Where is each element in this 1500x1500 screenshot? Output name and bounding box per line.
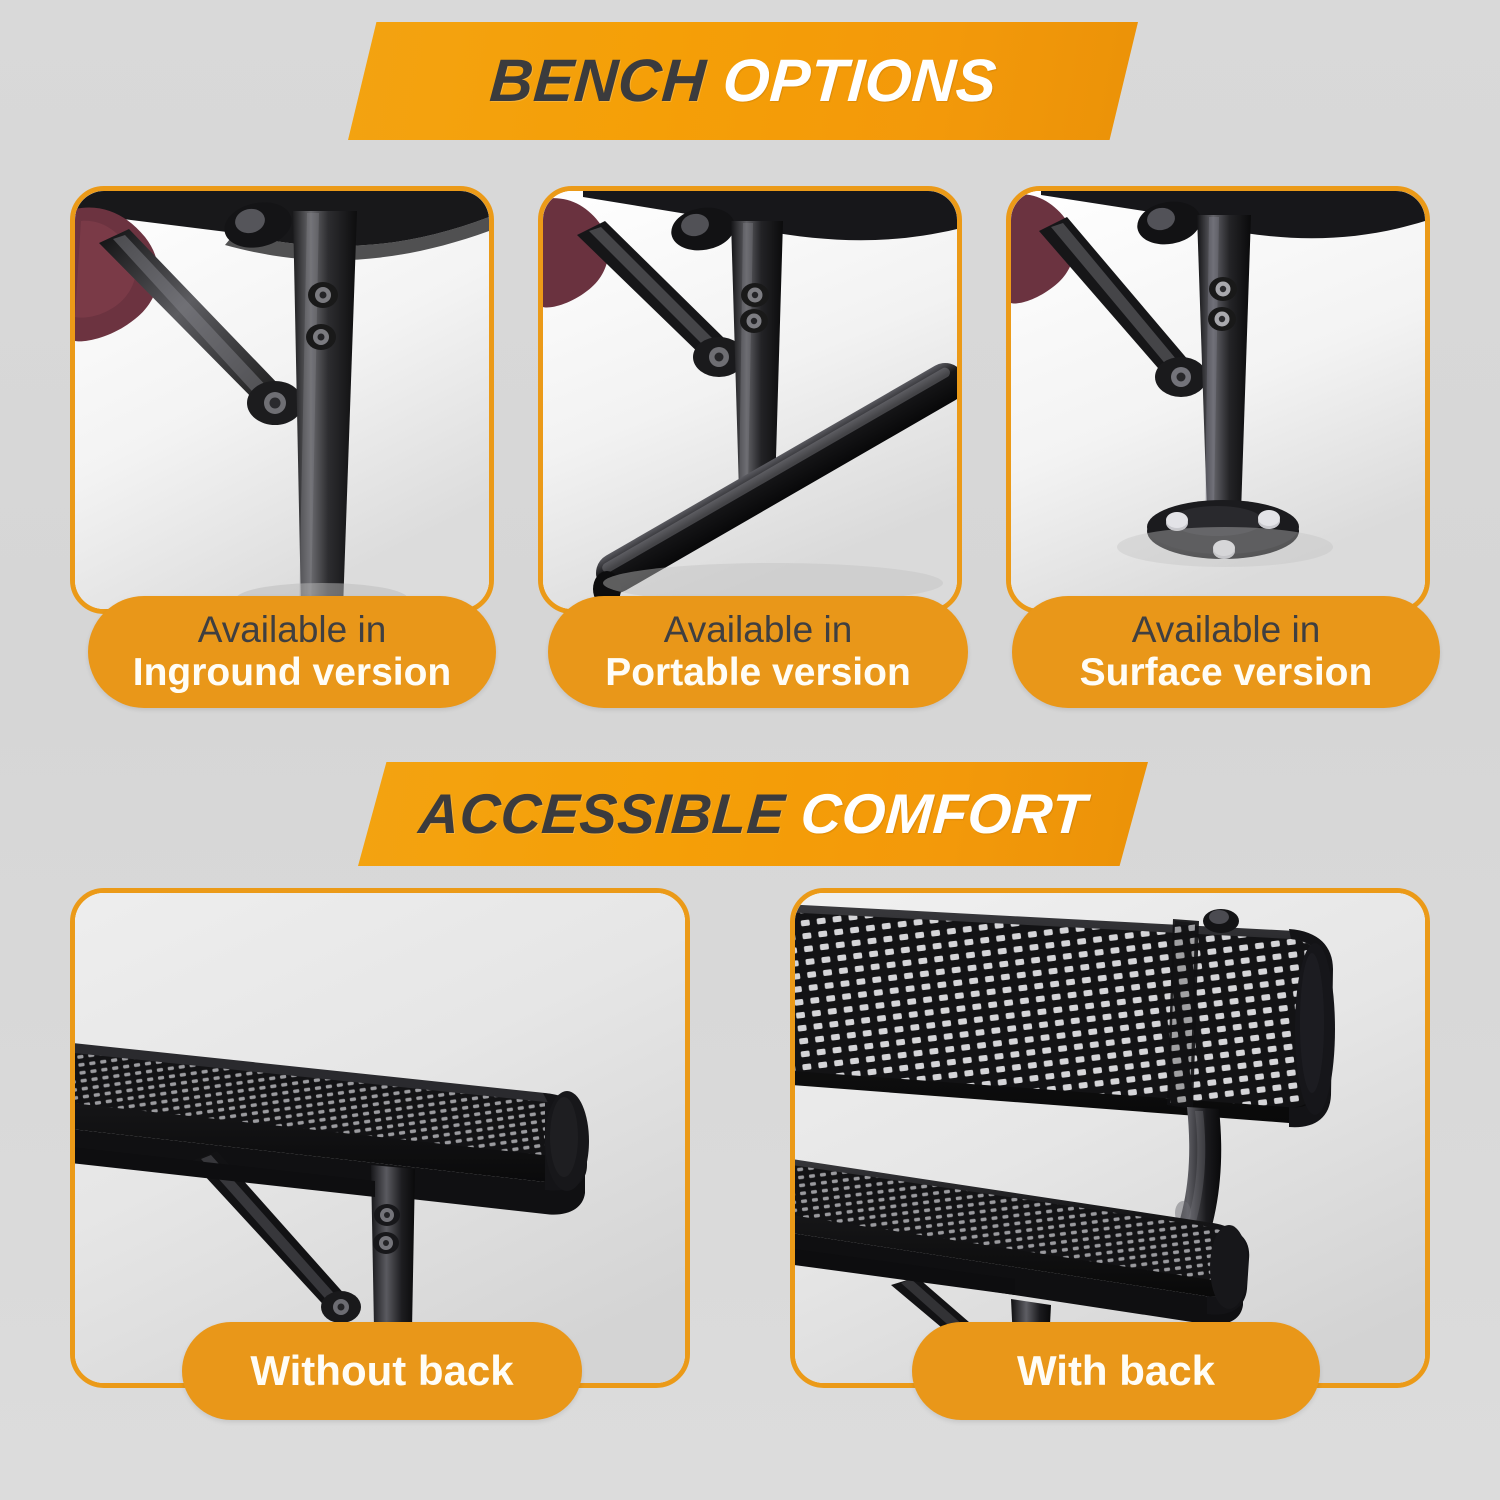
card-inground[interactable] (70, 186, 494, 614)
banner-accessible-comfort: ACCESSIBLE COMFORT (358, 762, 1148, 866)
banner-title-bench-options: BENCH OPTIONS (488, 51, 999, 111)
pill-line2: Portable version (605, 651, 911, 695)
bench-with-back-illustration (795, 893, 1425, 1383)
pill-line1: Available in (1132, 609, 1321, 650)
pill-with-back[interactable]: With back (912, 1322, 1320, 1420)
pill-without-back[interactable]: Without back (182, 1322, 582, 1420)
banner-word-dark: ACCESSIBLE (417, 782, 787, 845)
pill-inground[interactable]: Available in Inground version (88, 596, 496, 708)
photo-inground (75, 191, 489, 609)
card-portable[interactable] (538, 186, 962, 614)
infographic-page: BENCH OPTIONS (0, 0, 1500, 1500)
banner-word-dark: BENCH (487, 47, 708, 114)
photo-without-back (75, 893, 685, 1383)
pill-portable[interactable]: Available in Portable version (548, 596, 968, 708)
inground-leg-illustration (75, 191, 489, 609)
pill-line1: Available in (664, 609, 853, 650)
photo-with-back (795, 893, 1425, 1383)
surface-mount-leg-illustration (1011, 191, 1425, 609)
photo-surface (1011, 191, 1425, 609)
card-surface[interactable] (1006, 186, 1430, 614)
photo-portable (543, 191, 957, 609)
pill-label: With back (1017, 1347, 1215, 1394)
portable-leg-illustration (543, 191, 957, 609)
bench-without-back-illustration (75, 893, 685, 1383)
card-with-back[interactable] (790, 888, 1430, 1388)
banner-title-accessible-comfort: ACCESSIBLE COMFORT (417, 786, 1088, 842)
banner-word-light: COMFORT (799, 782, 1089, 845)
pill-surface[interactable]: Available in Surface version (1012, 596, 1440, 708)
card-without-back[interactable] (70, 888, 690, 1388)
pill-line2: Surface version (1080, 651, 1373, 695)
pill-line2: Inground version (133, 651, 452, 695)
banner-word-light: OPTIONS (720, 47, 998, 114)
pill-line1: Available in (198, 609, 387, 650)
pill-label: Without back (250, 1347, 513, 1394)
banner-bench-options: BENCH OPTIONS (348, 22, 1138, 140)
